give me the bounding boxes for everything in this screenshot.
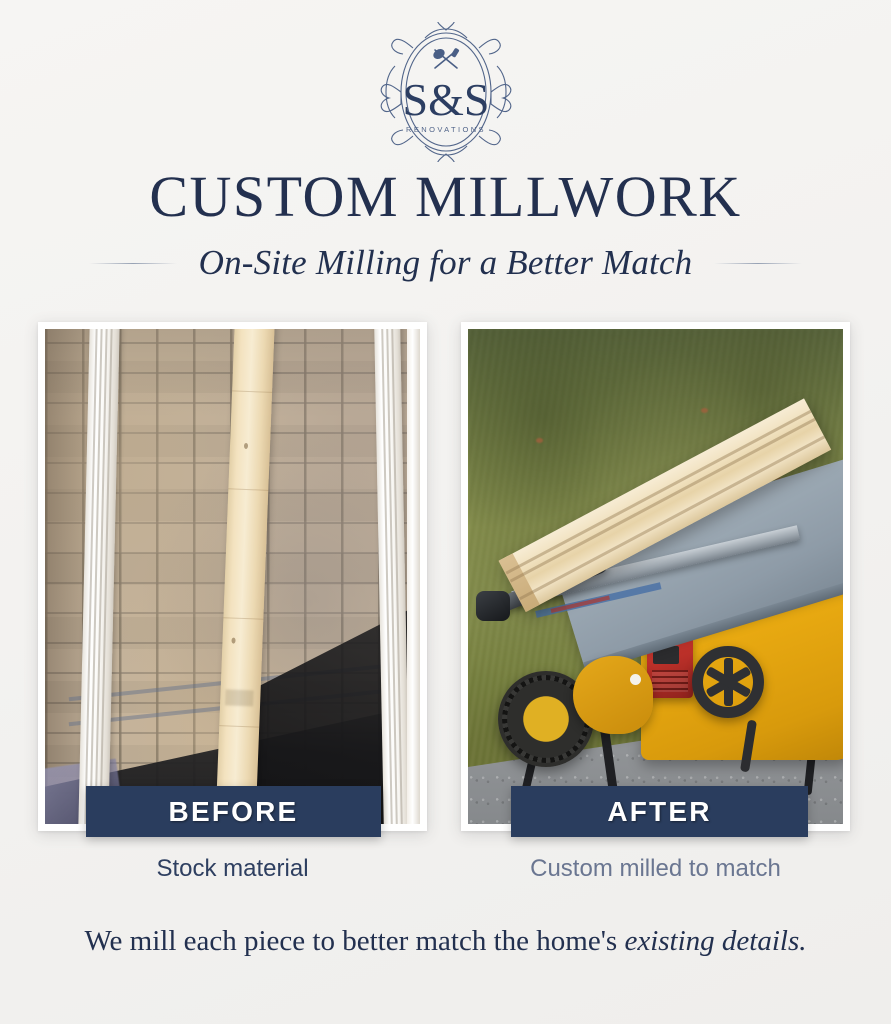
after-caption: Custom milled to match	[461, 855, 850, 883]
ornate-frame-icon: S&S RENOVATIONS	[373, 22, 519, 162]
brand-logo: S&S RENOVATIONS	[0, 22, 891, 162]
footer-text-plain: We mill each piece to better match the h…	[84, 925, 624, 957]
after-photo-panel: DEWALT	[461, 322, 850, 831]
footer-tagline: We mill each piece to better match the h…	[0, 925, 891, 958]
divider-left	[89, 263, 177, 264]
page-subtitle: On-Site Milling for a Better Match	[199, 243, 693, 283]
subtitle-row: On-Site Milling for a Better Match	[0, 236, 891, 290]
before-photo-panel: BEFORE	[38, 322, 427, 831]
before-caption: Stock material	[38, 855, 427, 883]
after-badge-label: AFTER	[607, 796, 711, 828]
before-photo	[45, 329, 420, 824]
poster-canvas: S&S RENOVATIONS CUSTOM MILLWORK On-Site …	[0, 0, 891, 1024]
trim-edge	[407, 329, 420, 824]
yellow-stand-bracket	[573, 656, 653, 734]
after-photo: DEWALT	[468, 329, 843, 824]
divider-right	[714, 263, 802, 264]
clamp-head	[476, 591, 510, 621]
before-badge: BEFORE	[86, 786, 381, 837]
after-badge: AFTER	[511, 786, 808, 837]
logo-initials: S&S	[402, 74, 489, 125]
footer-text-emphasis: existing details.	[624, 925, 806, 957]
page-title: CUSTOM MILLWORK	[0, 168, 891, 226]
height-adjust-handwheel	[692, 646, 764, 718]
logo-subtext: RENOVATIONS	[406, 125, 486, 134]
before-badge-label: BEFORE	[169, 796, 299, 828]
